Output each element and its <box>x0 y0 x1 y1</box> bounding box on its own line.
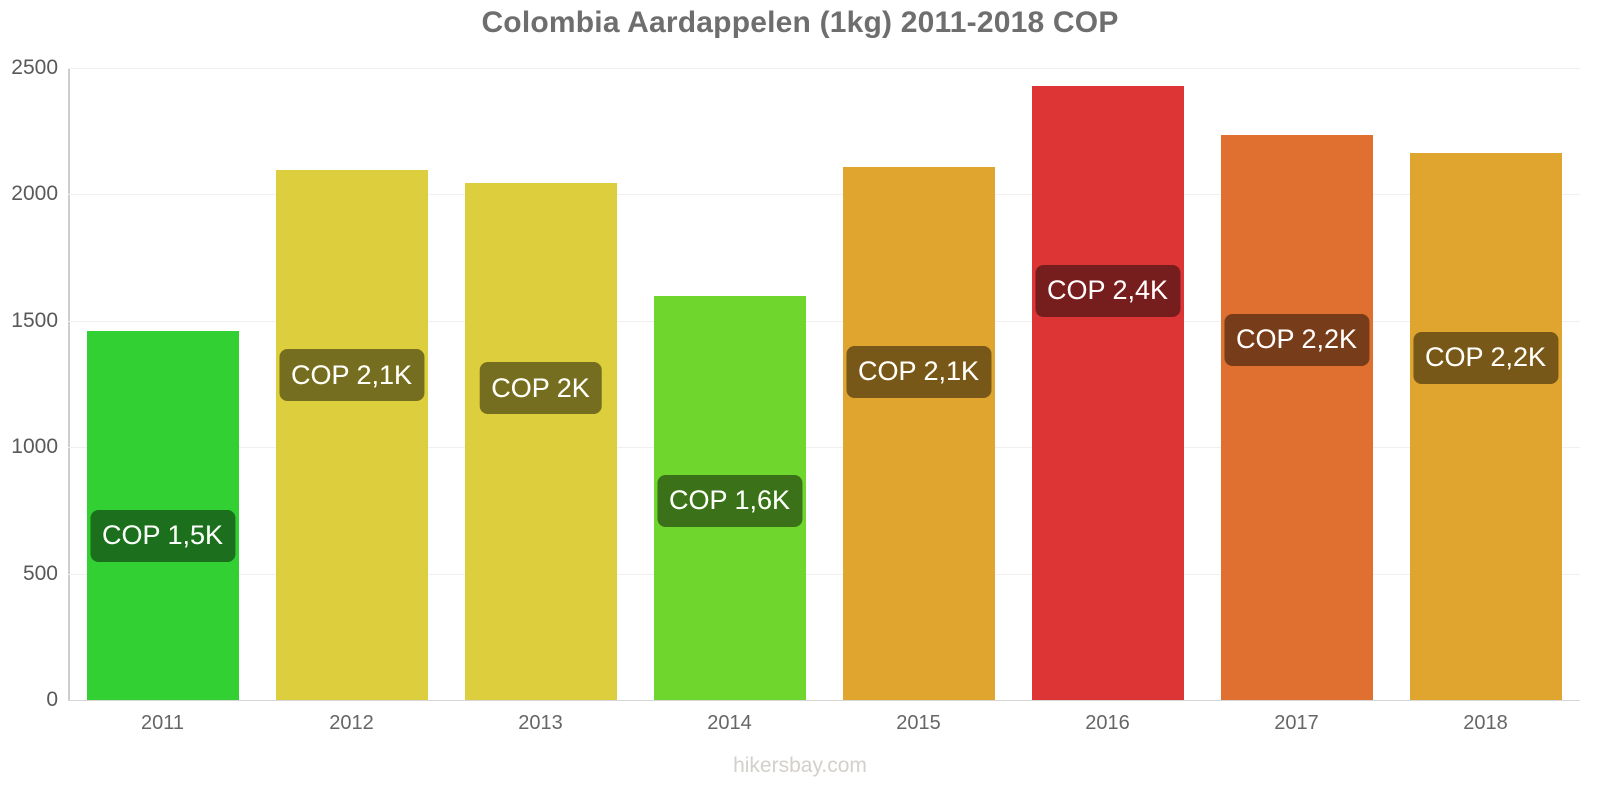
bar-value-label-box-2011: COP 1,5K <box>90 510 235 562</box>
x-tick-label-2017: 2017 <box>1274 712 1319 735</box>
bar-2016[interactable] <box>1032 86 1184 700</box>
bar-value-label-box-2015: COP 2,1K <box>846 346 991 398</box>
x-tick-label-2013: 2013 <box>518 712 563 735</box>
bar-2012[interactable] <box>276 170 428 700</box>
y-tick-label-0: 0 <box>46 688 58 712</box>
bar-chart: Colombia Aardappelen (1kg) 2011-2018 COP… <box>0 0 1600 800</box>
x-tick-label-2016: 2016 <box>1085 712 1130 735</box>
bar-fill-2012 <box>276 170 428 700</box>
x-tick-label-2011: 2011 <box>141 712 184 735</box>
bar-2015[interactable] <box>843 167 995 700</box>
bar-value-label-box-2013: COP 2K <box>479 362 602 414</box>
gridline-0 <box>68 700 1580 701</box>
x-tick-label-2012: 2012 <box>329 712 374 735</box>
footer-credit: hikersbay.com <box>0 754 1600 778</box>
bar-fill-2017 <box>1221 135 1373 700</box>
x-tick-label-2018: 2018 <box>1463 712 1508 735</box>
y-tick-label-1500: 1500 <box>11 309 58 333</box>
bar-fill-2016 <box>1032 86 1184 700</box>
x-tick-label-2014: 2014 <box>707 712 752 735</box>
bar-fill-2013 <box>465 183 617 700</box>
bar-value-label-box-2017: COP 2,2K <box>1224 314 1369 366</box>
bar-value-label-box-2012: COP 2,1K <box>279 349 424 401</box>
gridline-2500 <box>68 68 1580 69</box>
y-tick-label-1000: 1000 <box>11 435 58 459</box>
y-tick-label-500: 500 <box>23 562 58 586</box>
x-tick-label-2015: 2015 <box>896 712 941 735</box>
bar-2018[interactable] <box>1410 153 1562 700</box>
bar-fill-2015 <box>843 167 995 700</box>
bar-value-label-box-2014: COP 1,6K <box>657 475 802 527</box>
chart-title: Colombia Aardappelen (1kg) 2011-2018 COP <box>0 6 1600 40</box>
bar-value-label-box-2018: COP 2,2K <box>1413 332 1558 384</box>
bar-fill-2018 <box>1410 153 1562 700</box>
bar-2017[interactable] <box>1221 135 1373 700</box>
y-tick-label-2500: 2500 <box>11 56 58 80</box>
y-tick-label-2000: 2000 <box>11 182 58 206</box>
y-axis-labels: 05001000150020002500 <box>0 0 58 800</box>
bar-value-label-box-2016: COP 2,4K <box>1035 265 1180 317</box>
bar-2013[interactable] <box>465 183 617 700</box>
